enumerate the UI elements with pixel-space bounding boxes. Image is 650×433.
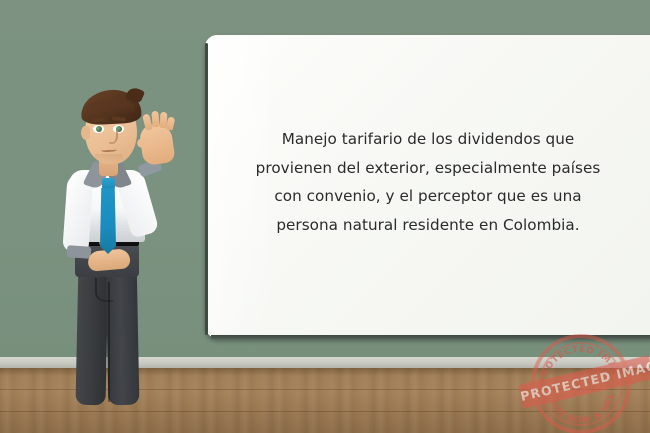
finger: [166, 116, 176, 130]
ear: [81, 126, 90, 140]
whiteboard-left-edge: [205, 43, 208, 335]
whiteboard-text-line-1: Manejo tarifario de los dividendos que: [228, 125, 628, 154]
cuff-left: [67, 245, 92, 259]
finger: [151, 111, 159, 128]
hair-fringe: [85, 100, 135, 115]
trouser-pocket: [95, 278, 113, 302]
eye-left: [93, 125, 104, 133]
necktie: [100, 188, 116, 254]
whiteboard-text-line-4: persona natural residente en Colombia.: [228, 211, 628, 240]
whiteboard-text: Manejo tarifario de los dividendos que p…: [228, 125, 628, 239]
whiteboard-text-line-3: con convenio, y el perceptor que es una: [228, 182, 628, 211]
chin-shading: [95, 154, 123, 162]
iris: [96, 126, 102, 132]
presenter-character: [55, 82, 205, 433]
whiteboard-text-line-2: provienen del exterior, especialmente pa…: [228, 154, 628, 183]
video-frame: Manejo tarifario de los dividendos que p…: [0, 0, 650, 433]
whiteboard-bottom-edge: [211, 335, 650, 339]
